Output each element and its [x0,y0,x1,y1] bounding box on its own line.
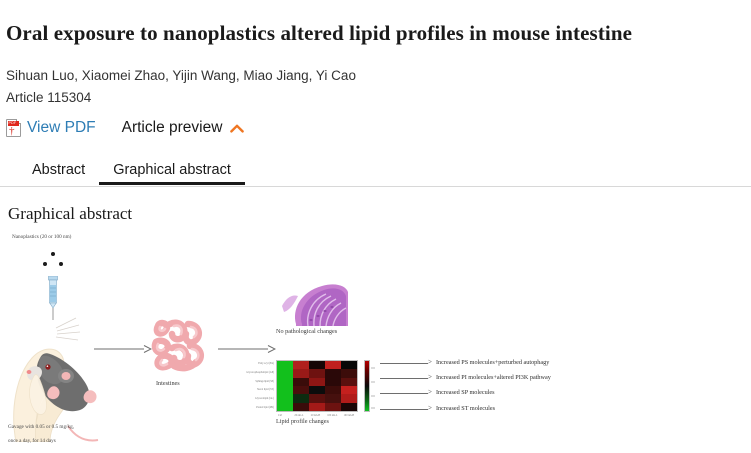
heatmap-cell [309,369,325,377]
article-actions: PDF † View PDF Article preview [0,105,751,137]
heatmap-cell [341,361,357,369]
graphical-abstract-figure: Nanoplastics (20 or 100 nm) [4,232,624,453]
heatmap-cell [277,369,293,377]
figure-label-intestines: Intestines [156,380,180,387]
heatmap-column-label: 100 nm-H [344,414,355,417]
outcome-label: Increased SP molecules [436,389,495,396]
figure-label-nanoplastics: Nanoplastics (20 or 100 nm) [12,234,71,240]
heatmap-row-label: Glycerophospholipid (GP) [242,371,274,374]
heatmap-row-label: Prenol lipid (PR) [242,406,274,409]
heatmap-cell [277,361,293,369]
heatmap-cell [277,378,293,386]
heatmap-row-label: Sphingolipid (SP) [242,380,274,383]
view-pdf-label: View PDF [27,119,96,137]
heatmap-cell [277,403,293,411]
heatmap-cell [325,369,341,377]
article-preview-toggle[interactable]: Article preview [122,119,245,137]
tabs-divider [0,186,751,187]
heatmap-cell [309,378,325,386]
author-list: Sihuan Luo, Xiaomei Zhao, Yijin Wang, Mi… [0,60,751,83]
heatmap-cell [309,403,325,411]
hand-holding-mouse-illustration [6,314,128,442]
heatmap-row-label: Sterol lipid (ST) [242,388,274,391]
outcome-arrow-head: > [428,405,432,412]
chevron-up-icon [230,124,244,133]
heatmap-cell [341,386,357,394]
tab-graphical-abstract[interactable]: Graphical abstract [99,162,245,185]
nanoparticle-dot [59,262,63,266]
heatmap-column-label: 20 nm-H [311,414,320,417]
heatmap-cell [309,394,325,402]
outcome-arrow-head: > [428,374,432,381]
flow-arrow-1 [94,344,152,354]
heatmap-colorbar [364,360,370,412]
heatmap-cell [293,369,309,377]
flow-arrow-2 [218,344,276,354]
page-title: Oral exposure to nanoplastics altered li… [0,14,751,46]
heatmap-column-label: 20 nm-L [294,414,303,417]
heatmap-cell [341,394,357,402]
heatmap-cell [277,394,293,402]
heatmap-cell [293,386,309,394]
outcome-arrow-head: > [428,389,432,396]
heatmap-cell [325,403,341,411]
article-preview-page: Oral exposure to nanoplastics altered li… [0,14,751,453]
heatmap-cell [309,386,325,394]
heatmap-column-label: Ctrl [278,414,282,417]
nanoparticle-dot [43,262,47,266]
heatmap-column-label: 100 nm-L [327,414,337,417]
heatmap-cell [325,361,341,369]
heatmap-cell [341,378,357,386]
heatmap-row-label: Glycerolipid (GL) [242,397,274,400]
heatmap-cell [293,403,309,411]
outcome-connector-line [380,393,428,394]
heatmap-cell [341,369,357,377]
heatmap-cell [341,403,357,411]
heatmap-cell [309,361,325,369]
figure-label-gavage-line1: Gavage with 0.05 or 0.5 mg/kg, [8,424,74,430]
article-preview-label: Article preview [122,119,223,137]
histology-section-image [278,280,348,326]
heatmap-cell [293,361,309,369]
outcome-connector-line [380,409,428,410]
heatmap-cell [293,394,309,402]
heatmap-cell [325,378,341,386]
intestines-illustration [148,316,210,376]
tab-abstract[interactable]: Abstract [18,162,99,185]
heatmap-cell [277,386,293,394]
outcome-label: Increased ST molecules [436,405,495,412]
heatmap-cell [325,386,341,394]
outcome-arrow-head: > [428,359,432,366]
heatmap-row-label: Fatty acyl (FA) [242,362,274,365]
figure-label-heatmap-caption: Lipid profile changes [276,418,329,425]
view-pdf-button[interactable]: PDF † View PDF [6,119,96,137]
content-tabs: Abstract Graphical abstract [0,157,751,187]
lipid-heatmap [276,360,358,412]
nanoparticle-dot [51,252,55,256]
colorbar-ticks [371,360,379,412]
outcome-connector-line [380,363,428,364]
heatmap-cell [325,394,341,402]
pdf-icon-label: PDF [9,121,17,125]
pdf-document-icon: PDF † [6,119,21,137]
outcome-connector-line [380,378,428,379]
outcome-label: Increased PS molecules+perturbed autopha… [436,359,549,366]
figure-label-histology: No pathological changes [276,328,337,335]
section-heading: Graphical abstract [0,187,751,224]
outcome-label: Increased PI molecules+altered PI3K path… [436,374,551,381]
article-number: Article 115304 [0,83,751,105]
heatmap-cell [293,378,309,386]
figure-label-gavage-line2: once a day, for 14 days [8,438,56,444]
